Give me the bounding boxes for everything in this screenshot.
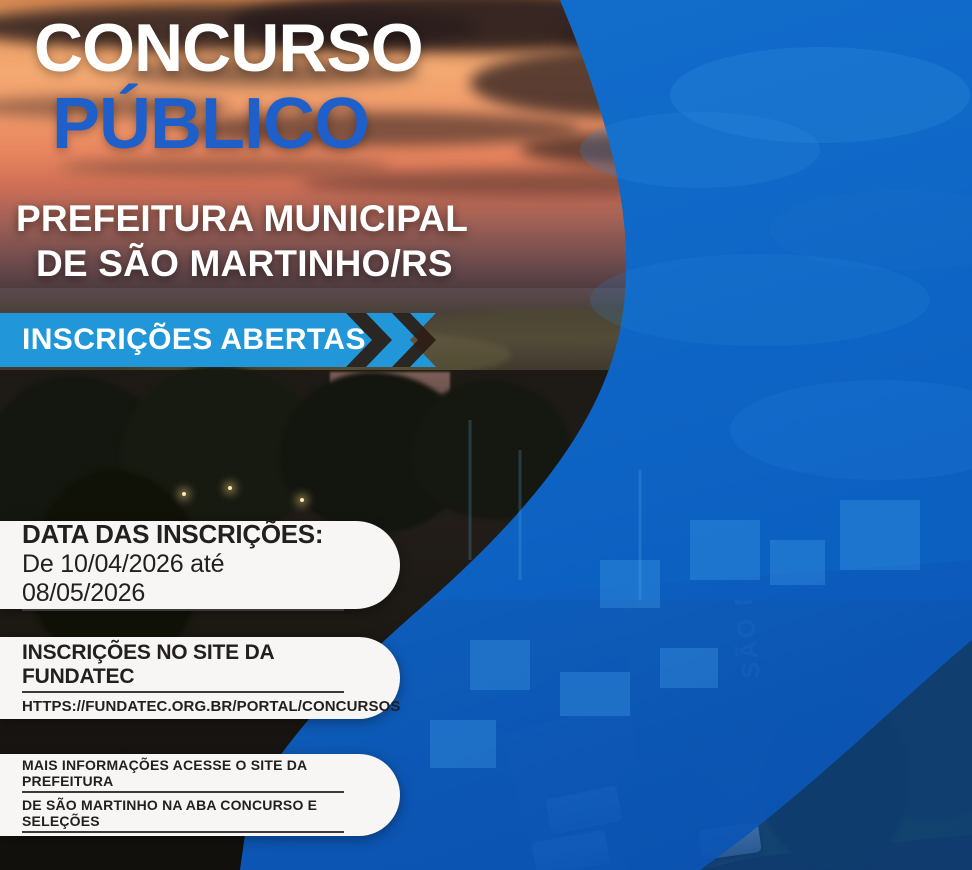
subtitle-block: PREFEITURA MUNICIPAL DE SÃO MARTINHO/RS	[16, 196, 468, 286]
headline-concurso: CONCURSO	[34, 14, 423, 82]
card-url[interactable]: HTTPS://FUNDATEC.ORG.BR/PORTAL/CONCURSOS	[22, 698, 344, 715]
inscriptions-open-banner: INSCRIÇÕES ABERTAS	[0, 313, 436, 367]
subtitle-line-2: DE SÃO MARTINHO/RS	[16, 241, 468, 286]
card-registration-site: INSCRIÇÕES NO SITE DA FUNDATEC HTTPS://F…	[0, 637, 400, 719]
card-value: DE SÃO MARTINHO NA ABA CONCURSO E SELEÇÕ…	[22, 797, 344, 833]
card-title: MAIS INFORMAÇÕES ACESSE O SITE DA PREFEI…	[22, 757, 344, 793]
poster-content: CONCURSO PÚBLICO PREFEITURA MUNICIPAL DE…	[0, 0, 972, 870]
card-title: DATA DAS INSCRIÇÕES:	[22, 519, 344, 550]
banner-label: INSCRIÇÕES ABERTAS	[22, 313, 366, 367]
poster-canvas: SÃO MARTINHO	[0, 0, 972, 870]
card-more-information: MAIS INFORMAÇÕES ACESSE O SITE DA PREFEI…	[0, 754, 400, 836]
card-value: De 10/04/2026 até 08/05/2026	[22, 550, 344, 611]
headline-publico: PÚBLICO	[52, 88, 369, 160]
card-registration-dates: DATA DAS INSCRIÇÕES: De 10/04/2026 até 0…	[0, 521, 400, 609]
subtitle-line-1: PREFEITURA MUNICIPAL	[16, 198, 468, 239]
card-title: INSCRIÇÕES NO SITE DA FUNDATEC	[22, 641, 344, 693]
